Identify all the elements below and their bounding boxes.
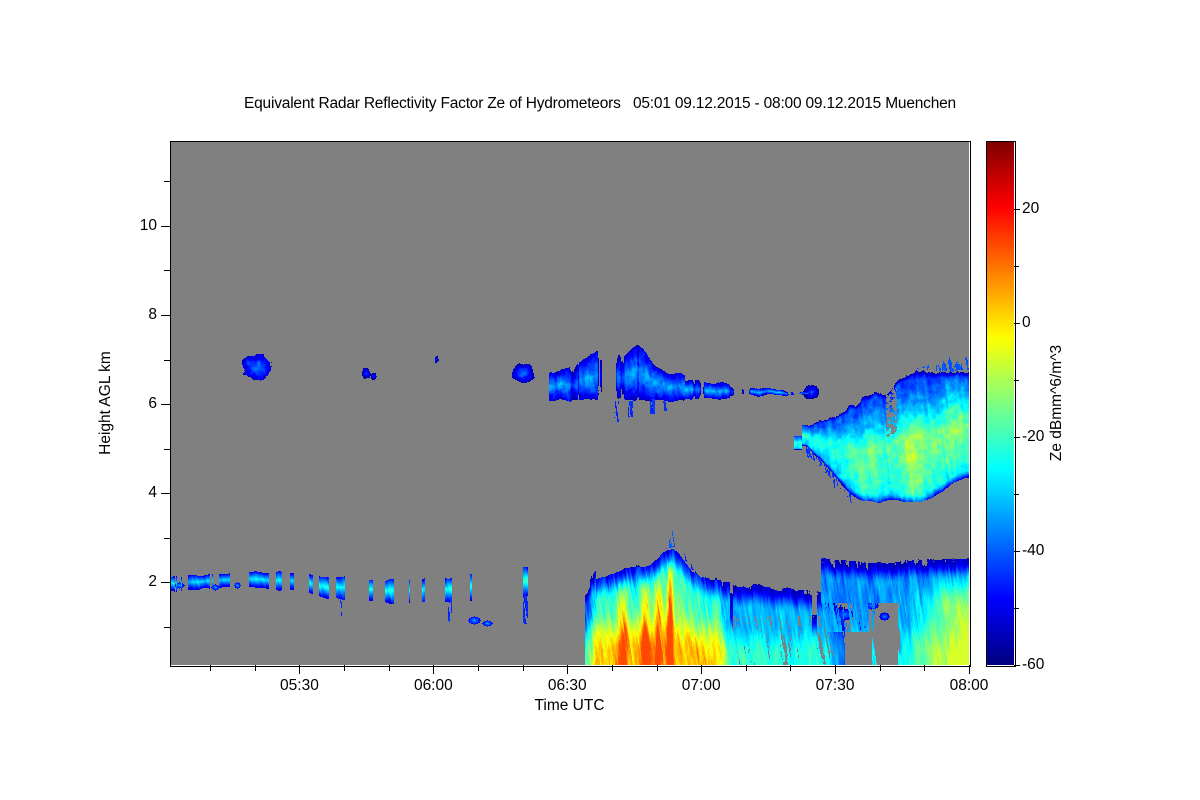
colorbar-tick-minor bbox=[1014, 380, 1019, 381]
colorbar-tick-major bbox=[1014, 209, 1020, 210]
y-tick-major bbox=[161, 582, 170, 583]
x-axis-title: Time UTC bbox=[170, 697, 969, 715]
x-tick-minor bbox=[790, 665, 791, 671]
colorbar-tick-label: -20 bbox=[1022, 428, 1044, 446]
y-tick-label: 6 bbox=[148, 395, 157, 413]
y-tick-major bbox=[161, 315, 170, 316]
x-tick-label: 06:00 bbox=[414, 677, 453, 695]
x-tick-major bbox=[567, 665, 568, 674]
x-tick-label: 07:00 bbox=[682, 677, 721, 695]
chart-title: Equivalent Radar Reflectivity Factor Ze … bbox=[0, 95, 1200, 113]
y-tick-label: 10 bbox=[140, 217, 157, 235]
x-tick-minor bbox=[657, 665, 658, 671]
plot-region: 246810 05:3006:0006:3007:0007:3008:00 bbox=[170, 141, 969, 665]
y-tick-major bbox=[161, 404, 170, 405]
x-tick-minor bbox=[255, 665, 256, 671]
x-tick-minor bbox=[344, 665, 345, 671]
x-tick-major bbox=[969, 665, 970, 674]
x-tick-minor bbox=[210, 665, 211, 671]
x-tick-minor bbox=[523, 665, 524, 671]
x-tick-minor bbox=[389, 665, 390, 671]
heatmap-plot-area bbox=[170, 141, 969, 665]
x-tick-major bbox=[835, 665, 836, 674]
y-tick-minor bbox=[164, 181, 170, 182]
colorbar-tick-major bbox=[1014, 323, 1020, 324]
colorbar-title: Ze dBmm^6/m^3 bbox=[1046, 141, 1068, 665]
radar-reflectivity-figure: Equivalent Radar Reflectivity Factor Ze … bbox=[0, 0, 1200, 800]
colorbar-tick-label: 0 bbox=[1022, 314, 1031, 332]
x-tick-minor bbox=[478, 665, 479, 671]
colorbar-tick-label: 20 bbox=[1022, 200, 1039, 218]
colorbar-tick-minor bbox=[1014, 608, 1019, 609]
y-tick-minor bbox=[164, 538, 170, 539]
y-tick-label: 2 bbox=[148, 573, 157, 591]
x-tick-major bbox=[433, 665, 434, 674]
colorbar-tick-major bbox=[1014, 437, 1020, 438]
y-tick-major bbox=[161, 493, 170, 494]
colorbar: -60-40-20020 bbox=[986, 141, 1014, 665]
y-tick-label: 4 bbox=[148, 484, 157, 502]
y-tick-major bbox=[161, 226, 170, 227]
x-tick-label: 06:30 bbox=[548, 677, 587, 695]
x-tick-minor bbox=[612, 665, 613, 671]
colorbar-tick-minor bbox=[1014, 266, 1019, 267]
colorbar-gradient-canvas bbox=[986, 141, 1014, 665]
colorbar-tick-minor bbox=[1014, 494, 1019, 495]
x-tick-minor bbox=[880, 665, 881, 671]
y-tick-minor bbox=[164, 270, 170, 271]
y-tick-minor bbox=[164, 627, 170, 628]
y-axis-title-text: Height AGL km bbox=[97, 351, 115, 455]
colorbar-tick-major bbox=[1014, 665, 1020, 666]
colorbar-title-text: Ze dBmm^6/m^3 bbox=[1048, 345, 1066, 461]
colorbar-tick-label: -40 bbox=[1022, 542, 1044, 560]
colorbar-tick-label: -60 bbox=[1022, 656, 1044, 674]
x-tick-major bbox=[299, 665, 300, 674]
reflectivity-heatmap-canvas bbox=[170, 141, 969, 665]
y-tick-minor bbox=[164, 449, 170, 450]
y-axis-title: Height AGL km bbox=[95, 141, 117, 665]
x-tick-label: 07:30 bbox=[816, 677, 855, 695]
colorbar-tick-major bbox=[1014, 551, 1020, 552]
y-tick-minor bbox=[164, 360, 170, 361]
x-tick-minor bbox=[924, 665, 925, 671]
y-tick-label: 8 bbox=[148, 306, 157, 324]
x-tick-label: 05:30 bbox=[280, 677, 319, 695]
x-tick-minor bbox=[746, 665, 747, 671]
x-tick-label: 08:00 bbox=[950, 677, 989, 695]
x-tick-major bbox=[701, 665, 702, 674]
